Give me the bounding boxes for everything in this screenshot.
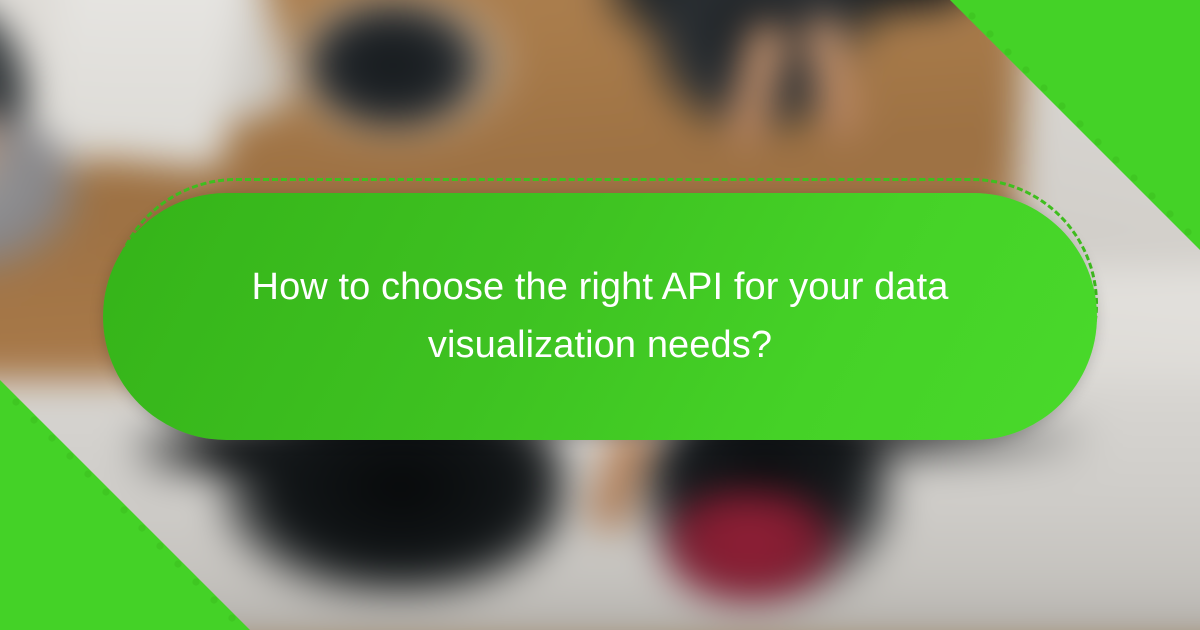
banner-canvas: How to choose the right API for your dat… xyxy=(0,0,1200,630)
person-left-skin xyxy=(0,98,17,193)
person-top xyxy=(301,0,492,132)
title-card: How to choose the right API for your dat… xyxy=(103,193,1097,440)
mat-upper-left-2 xyxy=(43,0,255,170)
page-title: How to choose the right API for your dat… xyxy=(240,259,960,375)
